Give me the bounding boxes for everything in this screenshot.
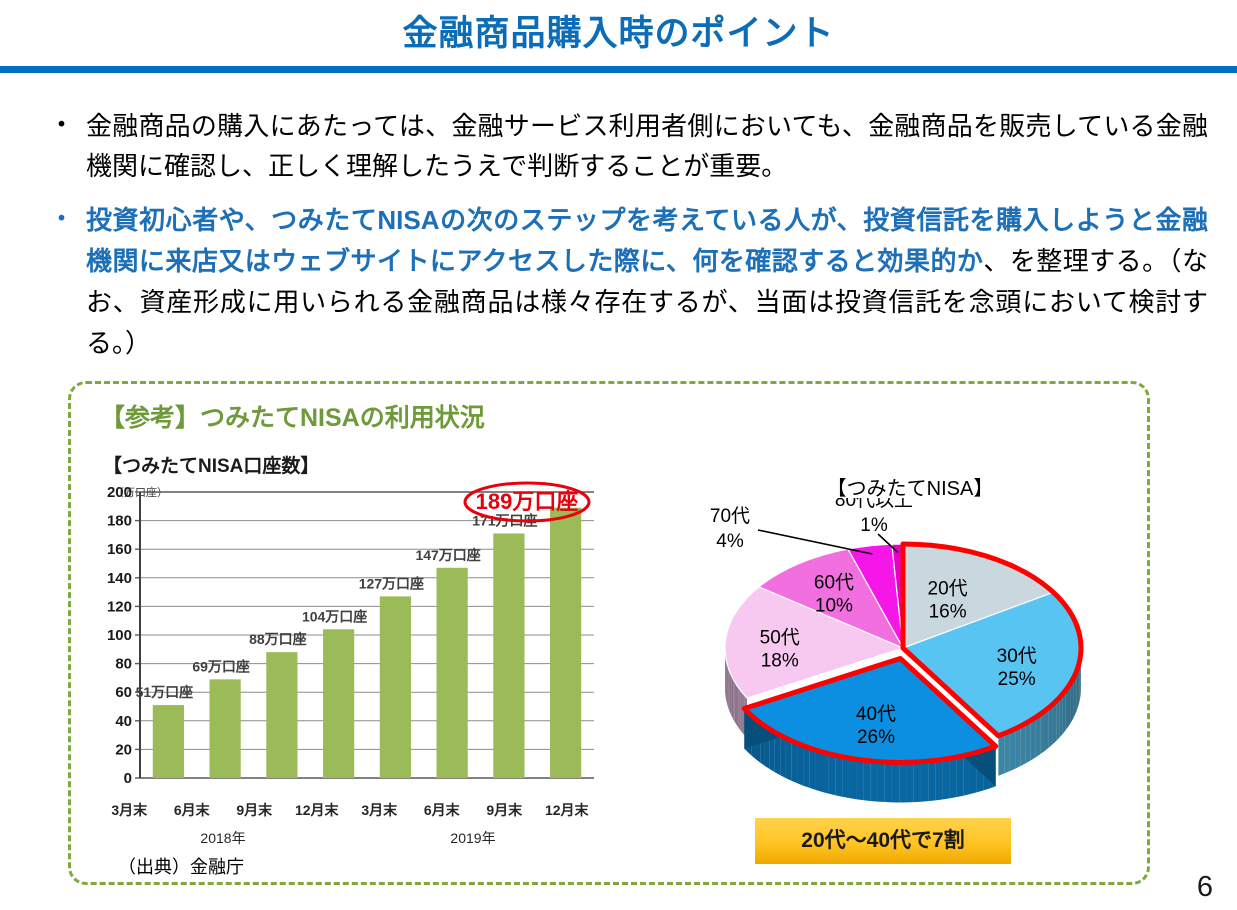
x-label: 3月末 xyxy=(348,800,411,820)
svg-text:1%: 1% xyxy=(860,515,888,536)
slide-root: 金融商品購入時のポイント ・ 金融商品の購入にあたっては、金融サービス利用者側に… xyxy=(0,0,1237,910)
bar-chart-year-labels: 2018年 2019年 xyxy=(98,828,598,848)
bullet-marker-icon: ・ xyxy=(38,106,86,144)
x-label-row: 3月末 6月末 9月末 12月末 3月末 6月末 9月末 12月末 xyxy=(98,800,598,820)
source-note: （出典）金融庁 xyxy=(118,853,244,879)
svg-text:50代: 50代 xyxy=(760,627,800,649)
svg-text:60代: 60代 xyxy=(814,571,854,593)
svg-text:4%: 4% xyxy=(716,531,744,552)
page-title: 金融商品購入時のポイント xyxy=(0,10,1237,58)
svg-text:80代以上: 80代以上 xyxy=(835,498,913,511)
svg-text:127万口座: 127万口座 xyxy=(359,575,424,591)
x-label: 6月末 xyxy=(161,800,224,820)
pie-chart: 20代16%30代25%40代26%50代18%60代10%70代4%80代以上… xyxy=(688,498,1118,828)
x-label: 9月末 xyxy=(473,800,536,820)
svg-text:147万口座: 147万口座 xyxy=(415,547,480,563)
bullet-text-1: 金融商品の購入にあたっては、金融サービス利用者側においても、金融商品を販売してい… xyxy=(86,106,1208,186)
svg-text:10%: 10% xyxy=(815,595,853,616)
x-label: 6月末 xyxy=(411,800,474,820)
x-label: 12月末 xyxy=(286,800,349,820)
bullet-text-2: 投資初心者や、つみたてNISAの次のステップを考えている人が、投資信託を購入しよ… xyxy=(86,200,1208,364)
svg-text:0: 0 xyxy=(124,770,132,787)
svg-text:180: 180 xyxy=(107,513,132,530)
svg-text:40: 40 xyxy=(115,713,132,730)
pie-chart-title: 【つみたてNISA】 xyxy=(700,472,1120,501)
bullet-item-2: ・ 投資初心者や、つみたてNISAの次のステップを考えている人が、投資信託を購入… xyxy=(38,200,1208,364)
svg-text:25%: 25% xyxy=(998,669,1036,690)
svg-text:70代: 70代 xyxy=(710,505,750,527)
year-label-2018: 2018年 xyxy=(98,828,348,848)
svg-text:200: 200 xyxy=(107,484,132,501)
bar-chart-title: 【つみたてNISA口座数】 xyxy=(103,451,319,478)
title-divider xyxy=(0,66,1237,73)
svg-text:18%: 18% xyxy=(761,651,799,672)
svg-text:51万口座: 51万口座 xyxy=(136,684,194,700)
svg-text:60: 60 xyxy=(115,684,132,701)
x-label: 3月末 xyxy=(98,800,161,820)
x-label: 9月末 xyxy=(223,800,286,820)
svg-text:80: 80 xyxy=(115,656,132,673)
pie-callout-label: 20代～40代で7割 xyxy=(755,818,1011,864)
reference-box-heading: 【参考】つみたてNISAの利用状況 xyxy=(100,398,485,434)
svg-text:160: 160 xyxy=(107,541,132,558)
bar-annotation-label: 189万口座 xyxy=(462,481,592,523)
svg-text:20: 20 xyxy=(115,741,132,758)
svg-text:40代: 40代 xyxy=(856,703,896,725)
svg-text:104万口座: 104万口座 xyxy=(302,608,367,624)
svg-text:20代: 20代 xyxy=(928,578,968,600)
svg-text:16%: 16% xyxy=(929,602,967,623)
svg-text:26%: 26% xyxy=(857,727,895,748)
x-label: 12月末 xyxy=(536,800,599,820)
bar-chart: 02040608010012014016018020051万口座69万口座88万… xyxy=(98,478,598,800)
svg-text:30代: 30代 xyxy=(997,645,1037,667)
bullet-list: ・ 金融商品の購入にあたっては、金融サービス利用者側においても、金融商品を販売し… xyxy=(38,106,1208,378)
svg-text:120: 120 xyxy=(107,598,132,615)
svg-text:140: 140 xyxy=(107,570,132,587)
svg-text:69万口座: 69万口座 xyxy=(192,658,250,674)
svg-text:100: 100 xyxy=(107,627,132,644)
bullet-marker-icon: ・ xyxy=(38,200,86,238)
bullet-item-1: ・ 金融商品の購入にあたっては、金融サービス利用者側においても、金融商品を販売し… xyxy=(38,106,1208,186)
year-label-2019: 2019年 xyxy=(348,828,598,848)
bar-chart-x-labels: 3月末 6月末 9月末 12月末 3月末 6月末 9月末 12月末 xyxy=(98,800,598,820)
page-number: 6 xyxy=(1197,871,1213,904)
svg-text:88万口座: 88万口座 xyxy=(249,631,307,647)
